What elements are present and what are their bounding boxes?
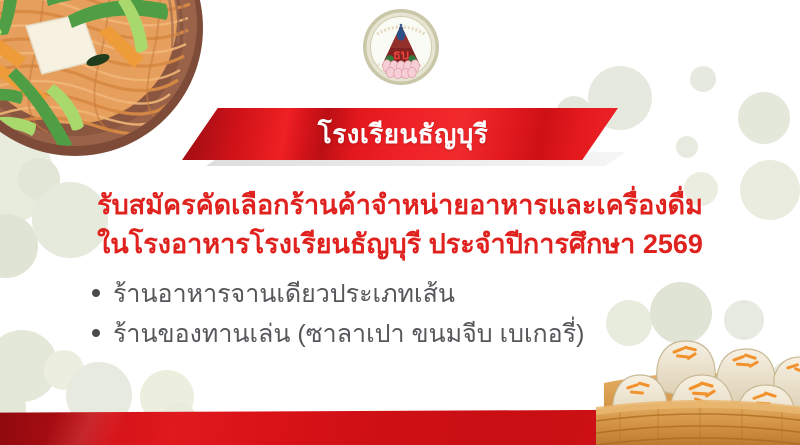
bullet-dot-icon <box>92 329 100 337</box>
bullet-item-label-2: ร้านของทานเล่น (ซาลาเปา ขนมจีบ เบเกอรี่) <box>113 314 584 354</box>
headline-line-1: รับสมัครคัดเลือกร้านค้าจำหน่ายอาหารและเค… <box>0 186 800 225</box>
banner-title-text: โรงเรียนธัญบุรี <box>318 121 488 147</box>
bullet-dot-icon <box>92 289 100 297</box>
bullet-item-label-1: ร้านอาหารจานเดียวประเภทเส้น <box>113 274 455 314</box>
dimsum-basket-illustration <box>596 299 800 445</box>
title-banner-wrap: โรงเรียนธัญบุรี <box>0 104 800 176</box>
title-banner: โรงเรียนธัญบุรี <box>182 108 618 160</box>
bottom-bar-highlight <box>46 409 128 445</box>
bullet-list: ร้านอาหารจานเดียวประเภทเส้น ร้านของทานเล… <box>92 274 584 354</box>
list-item: ร้านของทานเล่น (ซาลาเปา ขนมจีบ เบเกอรี่) <box>92 314 584 354</box>
list-item: ร้านอาหารจานเดียวประเภทเส้น <box>92 274 584 314</box>
headline-line-2: ในโรงอาหารโรงเรียนธัญบุรี ประจำปีการศึกษ… <box>0 225 800 264</box>
emblem-monogram: ธบ <box>393 47 409 62</box>
headline-block: รับสมัครคัดเลือกร้านค้าจำหน่ายอาหารและเค… <box>0 186 800 264</box>
poster-root: ธบ โรงเรียนธัญบุรี รับสมัครคัดเลือกร้านค… <box>0 0 800 445</box>
school-emblem: ธบ <box>362 8 440 86</box>
